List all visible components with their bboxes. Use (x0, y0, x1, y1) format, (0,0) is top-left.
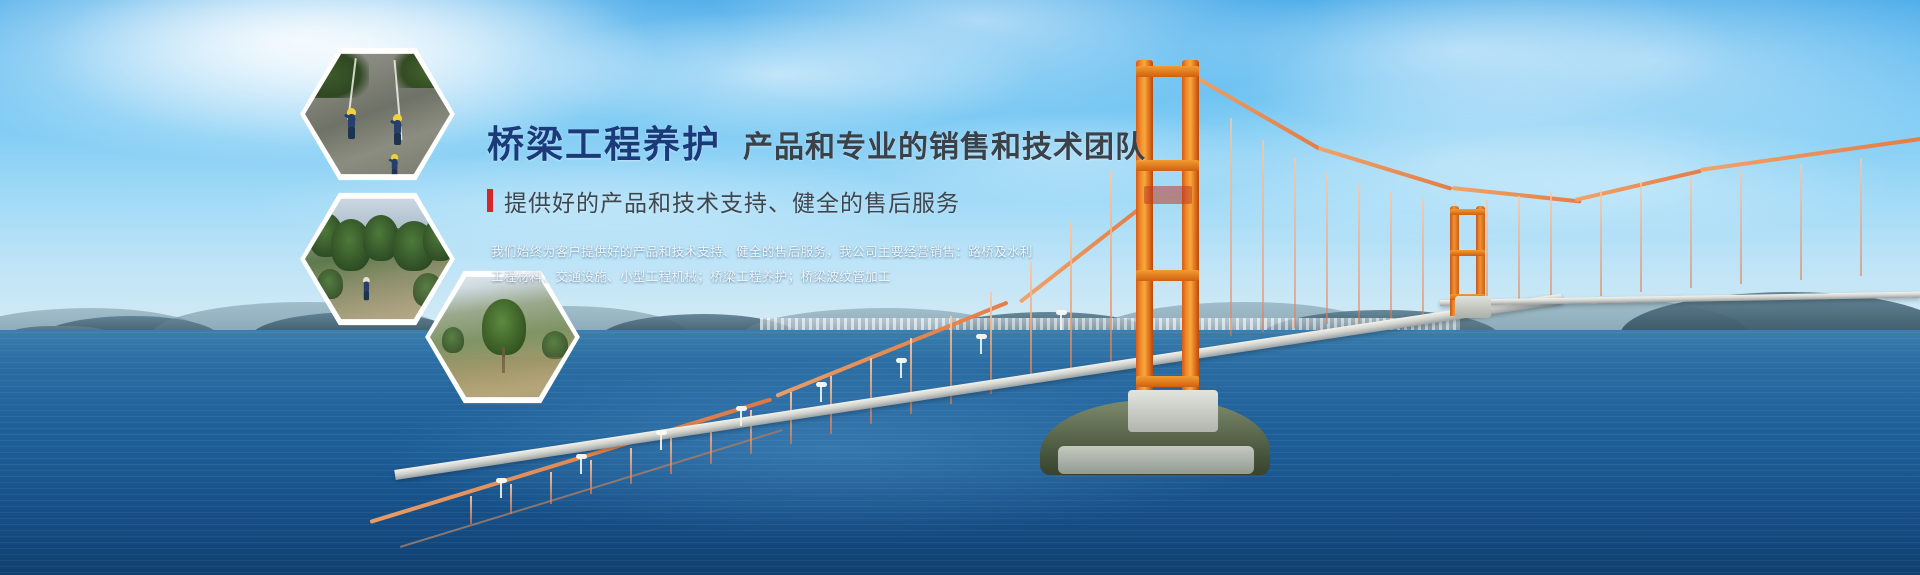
banner-description: 我们始终为客户提供好的产品和技术支持、健全的售后服务，我公司主要经营销售：路桥及… (491, 240, 891, 290)
hero-banner: 桥梁工程养护 产品和专业的销售和技术团队 提供好的产品和技术支持、健全的售后服务… (0, 0, 1920, 575)
bridge-pier-base (1128, 390, 1218, 432)
description-line-1: 我们始终为客户提供好的产品和技术支持、健全的售后服务，我公司主要经营销售：路桥及… (491, 240, 891, 265)
headline-primary: 桥梁工程养护 (487, 126, 721, 165)
banner-headline: 桥梁工程养护 产品和专业的销售和技术团队 (487, 126, 1247, 165)
bridge-deck-far (1440, 292, 1920, 306)
banner-text-block: 桥梁工程养护 产品和专业的销售和技术团队 提供好的产品和技术支持、健全的售后服务… (487, 126, 1247, 290)
banner-subtitle-row: 提供好的产品和技术支持、健全的售后服务 (487, 184, 1247, 218)
bridge-pier-far (1455, 296, 1491, 318)
accent-bar (487, 189, 493, 212)
description-line-2: 工程材料、交通设施、小型工程机械；桥梁工程养护；桥梁波纹管加工 (491, 265, 891, 290)
banner-subtitle: 提供好的产品和技术支持、健全的售后服务 (504, 184, 960, 218)
headline-secondary: 产品和专业的销售和技术团队 (743, 132, 1146, 164)
